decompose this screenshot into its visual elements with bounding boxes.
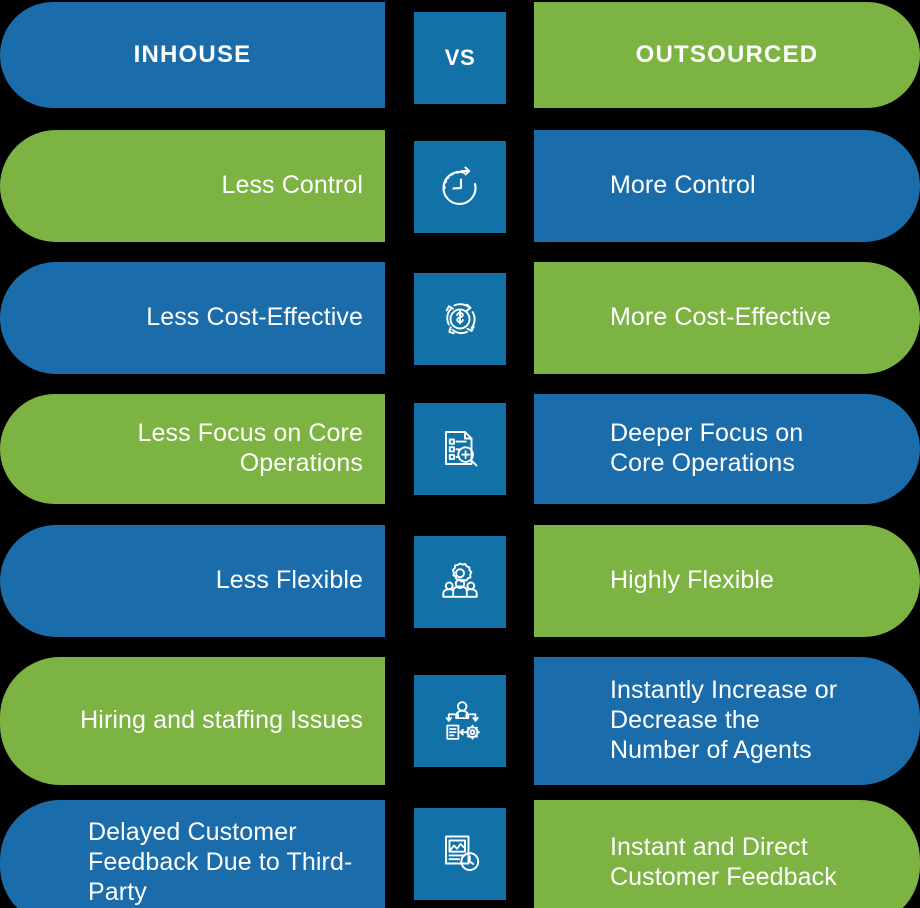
comparison-row: Hiring and staffing Issues [0,657,920,785]
comparison-row: Delayed Customer Feedback Due to Third-P… [0,800,920,908]
row-right-pill: Highly Flexible [534,525,920,637]
row-right-pill: More Control [534,130,920,242]
row-right-pill: Instant and Direct Customer Feedback [534,800,920,908]
row-left-pill: Less Control [0,130,385,242]
comparison-infographic: INHOUSE VS OUTSOURCED Less Control [0,0,920,908]
row-right-label: Instantly Increase or Decrease the Numbe… [610,676,850,765]
comparison-row: Less Focus on Core Operations Deeper Foc… [0,394,920,504]
row-left-pill: Less Focus on Core Operations [0,394,385,504]
header-row: INHOUSE VS OUTSOURCED [0,2,920,108]
row-left-pill: Hiring and staffing Issues [0,657,385,785]
row-right-label: Deeper Focus on Core Operations [610,419,850,479]
row-right-label: Instant and Direct Customer Feedback [610,833,850,893]
comparison-row: Less Cost-Effective M [0,262,920,374]
row-right-pill: Deeper Focus on Core Operations [534,394,920,504]
row-icon-box [414,808,506,900]
header-outsourced-label: OUTSOURCED [636,41,819,69]
vs-box: VS [414,12,506,104]
row-right-label: More Control [610,171,756,201]
row-left-label: Less Control [221,171,363,201]
row-right-label: More Cost-Effective [610,303,831,333]
comparison-row: Less Control More Control [0,130,920,242]
row-left-label: Hiring and staffing Issues [80,706,363,736]
row-left-label: Less Cost-Effective [146,303,363,333]
header-inhouse-label: INHOUSE [134,41,252,69]
row-left-pill: Less Cost-Effective [0,262,385,374]
header-outsourced-pill: OUTSOURCED [534,2,920,108]
row-icon-box [414,273,506,365]
vs-label: VS [445,45,476,71]
header-inhouse-pill: INHOUSE [0,2,385,108]
row-right-label: Highly Flexible [610,566,774,596]
row-icon-box [414,141,506,233]
row-icon-box [414,536,506,628]
row-icon-box [414,403,506,495]
money-cycle-icon [434,293,486,345]
row-icon-box [414,675,506,767]
row-left-label: Less Focus on Core Operations [70,419,363,479]
team-gear-icon [434,556,486,608]
row-left-label: Less Flexible [216,566,363,596]
report-clock-icon [435,829,485,879]
stopwatch-icon [435,162,485,212]
row-left-label: Delayed Customer Feedback Due to Third-P… [88,818,363,907]
row-left-pill: Less Flexible [0,525,385,637]
row-right-pill: More Cost-Effective [534,262,920,374]
comparison-row: Less Flexible Highly Flexible [0,525,920,637]
row-left-pill: Delayed Customer Feedback Due to Third-P… [0,800,385,908]
row-right-pill: Instantly Increase or Decrease the Numbe… [534,657,920,785]
staffing-gear-icon [435,696,485,746]
document-search-icon [435,424,485,474]
